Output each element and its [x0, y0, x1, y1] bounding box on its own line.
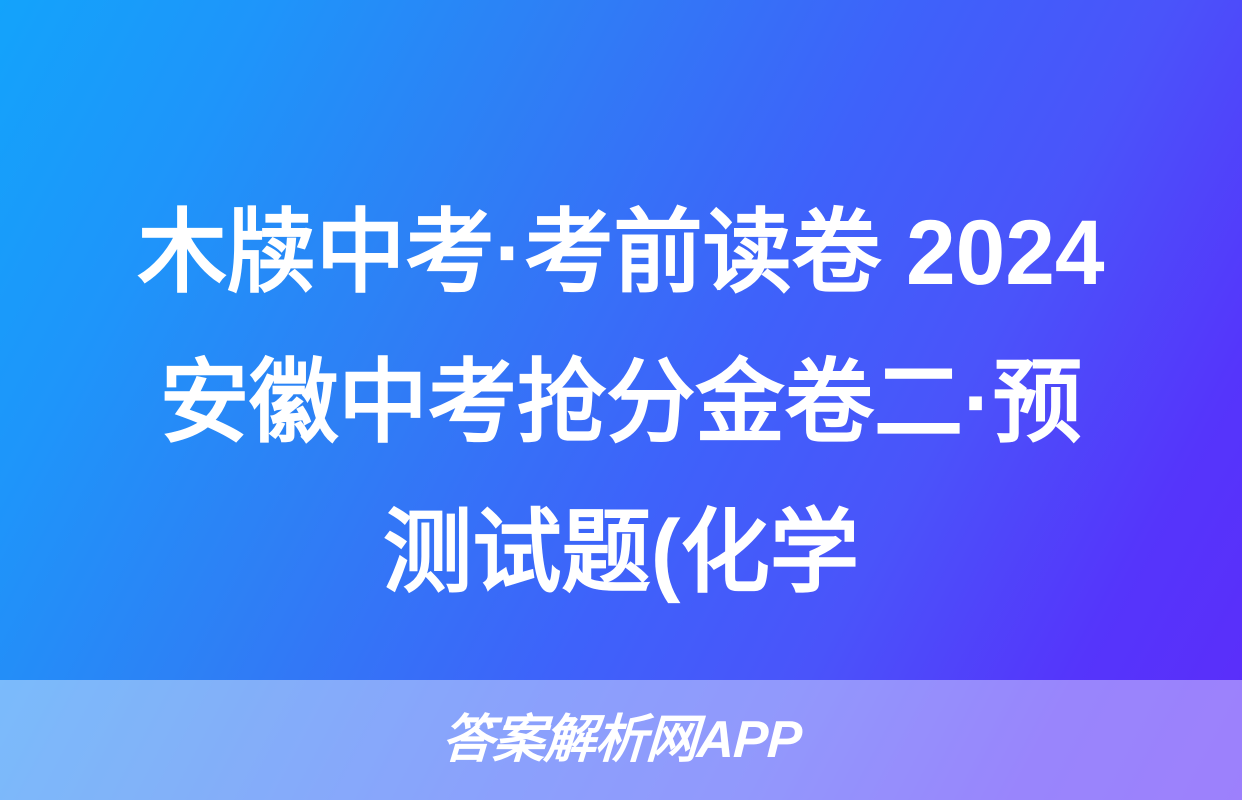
footer-banner: 答案解析网APP — [0, 680, 1242, 800]
app-watermark-label: 答案解析网APP — [440, 714, 802, 766]
title-line-2: 安徽中考抢分金卷二·预 — [79, 328, 1163, 478]
poster-title-block: 木牍中考·考前读卷 2024 安徽中考抢分金卷二·预 测试题(化学 — [0, 178, 1242, 628]
title-line-1: 木牍中考·考前读卷 2024 — [79, 178, 1163, 328]
title-line-3: 测试题(化学 — [79, 478, 1163, 628]
poster-canvas: 木牍中考·考前读卷 2024 安徽中考抢分金卷二·预 测试题(化学 答案解析网A… — [0, 0, 1242, 800]
